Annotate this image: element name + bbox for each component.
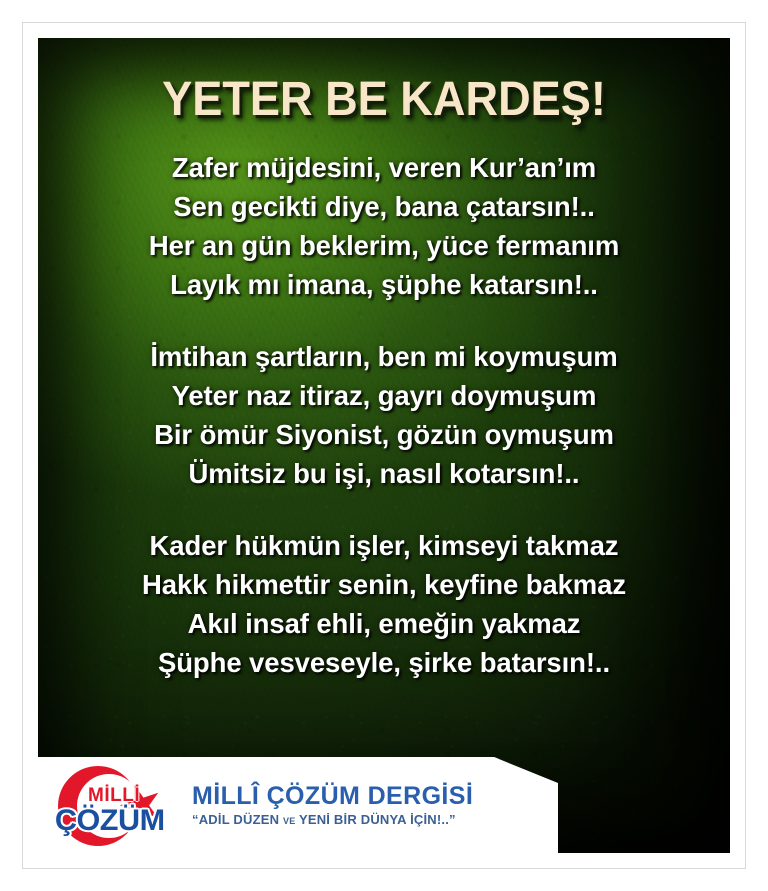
poem-line: Ümitsiz bu işi, nasıl kotarsın!.. <box>38 454 730 493</box>
poem-line: Her an gün beklerim, yüce fermanım <box>38 226 730 265</box>
poem-line: İmtihan şartların, ben mi koymuşum <box>38 337 730 376</box>
footer-branding-band: MİLLİ ÇÖZÜM MİLLÎ ÇÖZÜM DERGİSİ “ADİL DÜ… <box>38 757 558 853</box>
poem-stanza: Kader hükmün işler, kimseyi takmaz Hakk … <box>38 526 730 682</box>
poem-stanza: Zafer müjdesini, veren Kur’an’ım Sen gec… <box>38 148 730 304</box>
poster-page: YETER BE KARDEŞ! Zafer müjdesini, veren … <box>0 0 768 891</box>
poem-stanza: İmtihan şartların, ben mi koymuşum Yeter… <box>38 337 730 493</box>
footer-inner: MİLLİ ÇÖZÜM MİLLÎ ÇÖZÜM DERGİSİ “ADİL DÜ… <box>38 764 473 846</box>
poem-line: Sen gecikti diye, bana çatarsın!.. <box>38 187 730 226</box>
poem-line: Akıl insaf ehli, emeğin yakmaz <box>38 604 730 643</box>
poem-line: Zafer müjdesini, veren Kur’an’ım <box>38 148 730 187</box>
poster-frame: YETER BE KARDEŞ! Zafer müjdesini, veren … <box>22 22 746 869</box>
poem-line: Şüphe vesveseyle, şirke batarsın!.. <box>38 643 730 682</box>
logo-word-milli: MİLLİ <box>88 786 140 805</box>
logo-word-cozum: ÇÖZÜM <box>55 806 165 836</box>
magazine-name: MİLLÎ ÇÖZÜM DERGİSİ <box>192 783 473 809</box>
poem-line: Layık mı imana, şüphe katarsın!.. <box>38 265 730 304</box>
magazine-slogan: “ADİL DÜZEN ve YENİ BİR DÜNYA İÇİN!..” <box>192 812 473 827</box>
poem-line: Yeter naz itiraz, gayrı doymuşum <box>38 376 730 415</box>
poem-line: Kader hükmün işler, kimseyi takmaz <box>38 526 730 565</box>
poem-line: Hakk hikmettir senin, keyfine bakmaz <box>38 565 730 604</box>
poster-canvas: YETER BE KARDEŞ! Zafer müjdesini, veren … <box>38 38 730 853</box>
footer-text: MİLLÎ ÇÖZÜM DERGİSİ “ADİL DÜZEN ve YENİ … <box>192 783 473 826</box>
poem-line: Bir ömür Siyonist, gözün oymuşum <box>38 415 730 454</box>
poster-content: YETER BE KARDEŞ! Zafer müjdesini, veren … <box>38 38 730 853</box>
page-title: YETER BE KARDEŞ! <box>59 38 709 124</box>
poem-body: Zafer müjdesini, veren Kur’an’ım Sen gec… <box>38 124 730 682</box>
logo[interactable]: MİLLİ ÇÖZÜM <box>52 764 180 846</box>
